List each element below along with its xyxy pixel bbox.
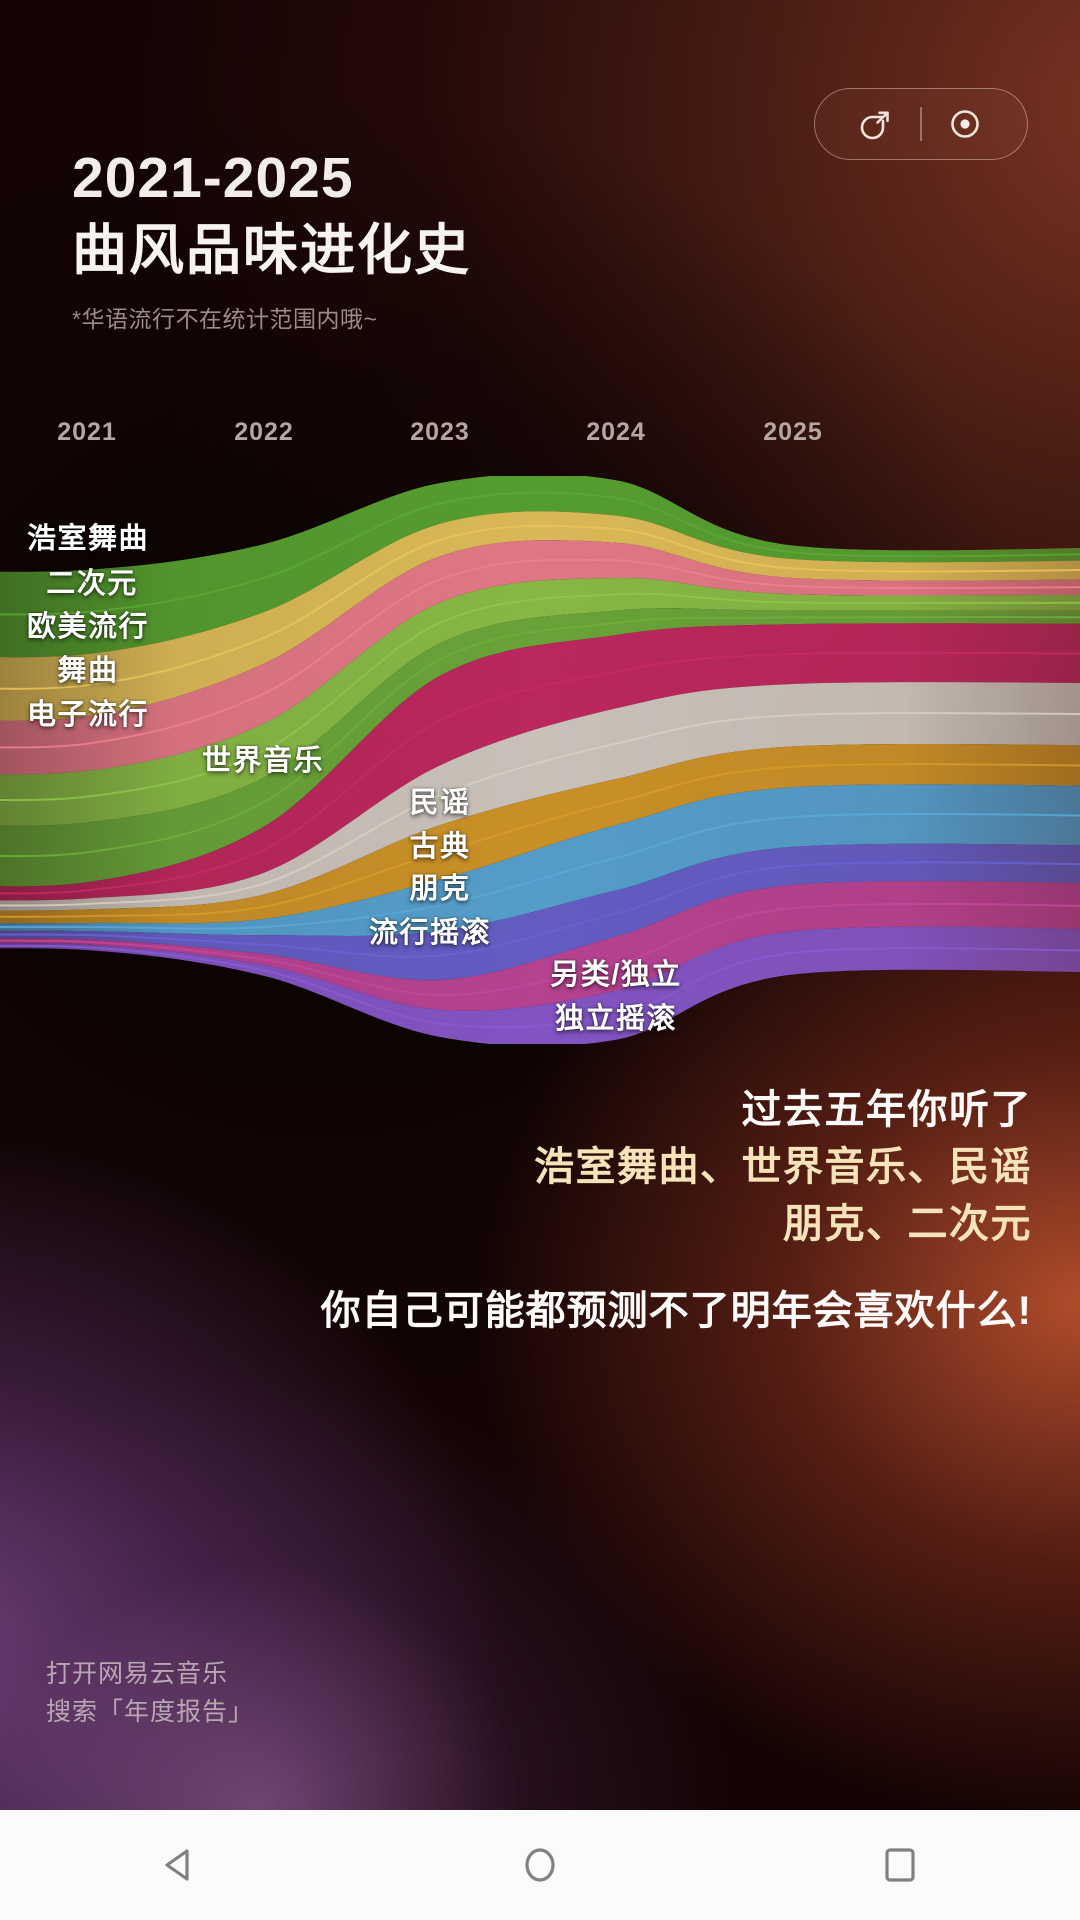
year-tick-2023: 2023: [410, 418, 470, 447]
title-footnote: *华语流行不在统计范围内哦~: [72, 300, 471, 334]
back-triangle-icon: [157, 1842, 203, 1888]
footer-line-2: 搜索「年度报告」: [46, 1693, 254, 1732]
summary-line-3: 朋克、二次元: [152, 1196, 1032, 1253]
summary-kicker: 你自己可能都预测不了明年会喜欢什么!: [152, 1278, 1032, 1336]
page-title-year: 2021-2025: [72, 150, 471, 207]
record-dot-icon: [945, 104, 985, 144]
streamgraph-svg: [0, 476, 1080, 1044]
record-button[interactable]: [922, 89, 1008, 159]
summary-block: 过去五年你听了 浩室舞曲、世界音乐、民谣 朋克、二次元 你自己可能都预测不了明年…: [152, 1082, 1032, 1336]
nav-home-button[interactable]: [465, 1810, 615, 1920]
home-circle-icon: [517, 1842, 563, 1888]
title-block: 2021-2025 曲风品味进化史 *华语流行不在统计范围内哦~: [72, 150, 471, 334]
year-tick-2021: 2021: [57, 418, 117, 447]
summary-line-2: 浩室舞曲、世界音乐、民谣: [152, 1139, 1032, 1196]
streamgraph-chart: 20212022202320242025 浩室舞曲二次元欧美流行舞曲电子流行世界…: [0, 418, 1080, 1038]
year-axis: 20212022202320242025: [0, 418, 1080, 464]
share-button[interactable]: [834, 89, 920, 159]
summary-line-1: 过去五年你听了: [152, 1082, 1032, 1139]
year-tick-2022: 2022: [234, 418, 294, 447]
action-pill: [814, 88, 1028, 160]
recents-square-icon: [877, 1842, 923, 1888]
share-circle-arrow-icon: [857, 104, 897, 144]
footer-line-1: 打开网易云音乐: [46, 1655, 254, 1694]
android-navbar: [0, 1810, 1080, 1920]
nav-recents-button[interactable]: [825, 1810, 975, 1920]
screen: 2021-2025 曲风品味进化史 *华语流行不在统计范围内哦~: [0, 0, 1080, 1920]
page-title-main: 曲风品味进化史: [72, 217, 471, 284]
nav-back-button[interactable]: [105, 1810, 255, 1920]
footer-cta: 打开网易云音乐 搜索「年度报告」: [46, 1655, 254, 1733]
annual-report-poster: 2021-2025 曲风品味进化史 *华语流行不在统计范围内哦~: [0, 0, 1080, 1810]
year-tick-2025: 2025: [763, 418, 823, 447]
year-tick-2024: 2024: [586, 418, 646, 447]
